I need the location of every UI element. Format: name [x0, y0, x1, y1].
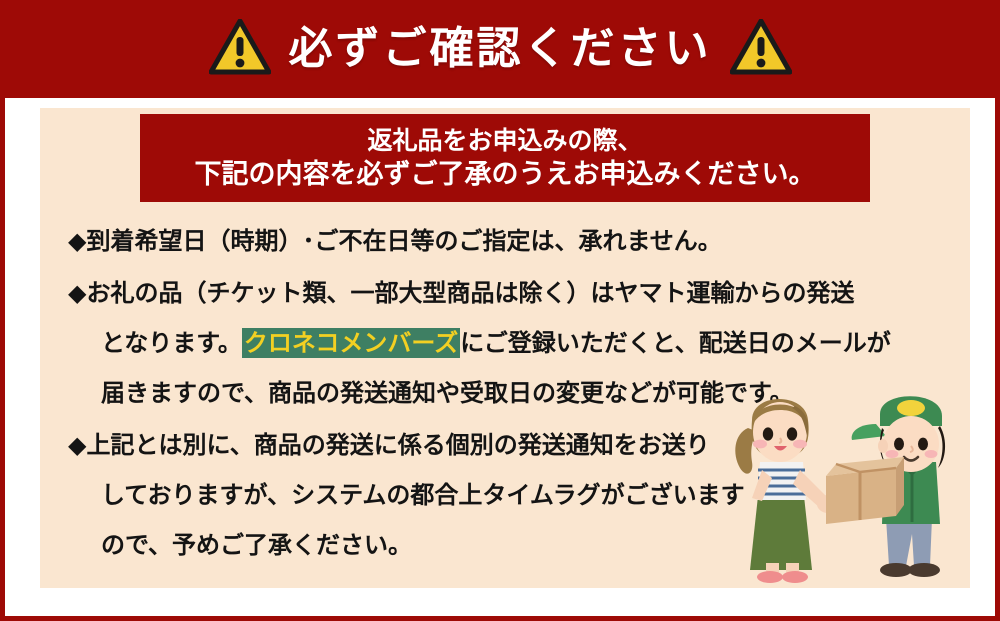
warning-triangle-icon	[730, 19, 792, 79]
note-item-1: ◆到着希望日（時期）･ご不在日等のご指定は、承れません。	[68, 216, 960, 266]
callout-box: 返礼品をお申込みの際、 下記の内容を必ずご了承のうえお申込みください。	[140, 114, 870, 202]
kuroneko-members-highlight: クロネコメンバーズ	[242, 328, 460, 358]
note-item-3: ◆上記とは別に、商品の発送に係る個別の発送通知をお送り しておりますが、システム…	[68, 420, 960, 570]
content-panel: 返礼品をお申込みの際、 下記の内容を必ずご了承のうえお申込みください。 ◆到着希…	[40, 108, 970, 588]
note-2-line-2-before: となります。	[101, 329, 242, 357]
warning-triangle-icon	[209, 19, 271, 79]
note-1-line-1-wrap: ◆到着希望日（時期）･ご不在日等のご指定は、承れません。	[68, 216, 960, 266]
banner-header: 必ずご確認ください	[0, 0, 1000, 98]
note-3-line-3: ので、予めご了承ください。	[68, 520, 960, 570]
notice-banner: 必ずご確認ください 返礼品をお申込みの際、 下記の内容を必ずご了承のうえお申込み…	[0, 0, 1000, 621]
note-3-line-2: しておりますが、システムの都合上タイムラグがございます	[68, 470, 960, 520]
page-title: 必ずご確認ください	[289, 27, 712, 71]
callout-line-2: 下記の内容を必ずご了承のうえお申込みください。	[195, 157, 816, 193]
note-2-line-3: 届きますので、商品の発送通知や受取日の変更などが可能です。	[68, 368, 960, 418]
note-2-line-2: となります。クロネコメンバーズにご登録いただくと、配送日のメールが	[68, 318, 960, 368]
note-2-line-2-after: にご登録いただくと、配送日のメールが	[460, 329, 891, 357]
note-2-line-1: ◆お礼の品（チケット類、一部大型商品は除く）はヤマト運輸からの発送	[68, 268, 960, 318]
note-1-line-1: ◆到着希望日（時期）･ご不在日等のご指定は、承れません。	[68, 227, 722, 255]
callout-line-1: 返礼品をお申込みの際、	[367, 124, 642, 157]
notes-list: ◆到着希望日（時期）･ご不在日等のご指定は、承れません。 ◆お礼の品（チケット類…	[68, 216, 960, 572]
note-3-line-1: ◆上記とは別に、商品の発送に係る個別の発送通知をお送り	[68, 420, 960, 470]
note-item-2: ◆お礼の品（チケット類、一部大型商品は除く）はヤマト運輸からの発送 となります。…	[68, 268, 960, 418]
